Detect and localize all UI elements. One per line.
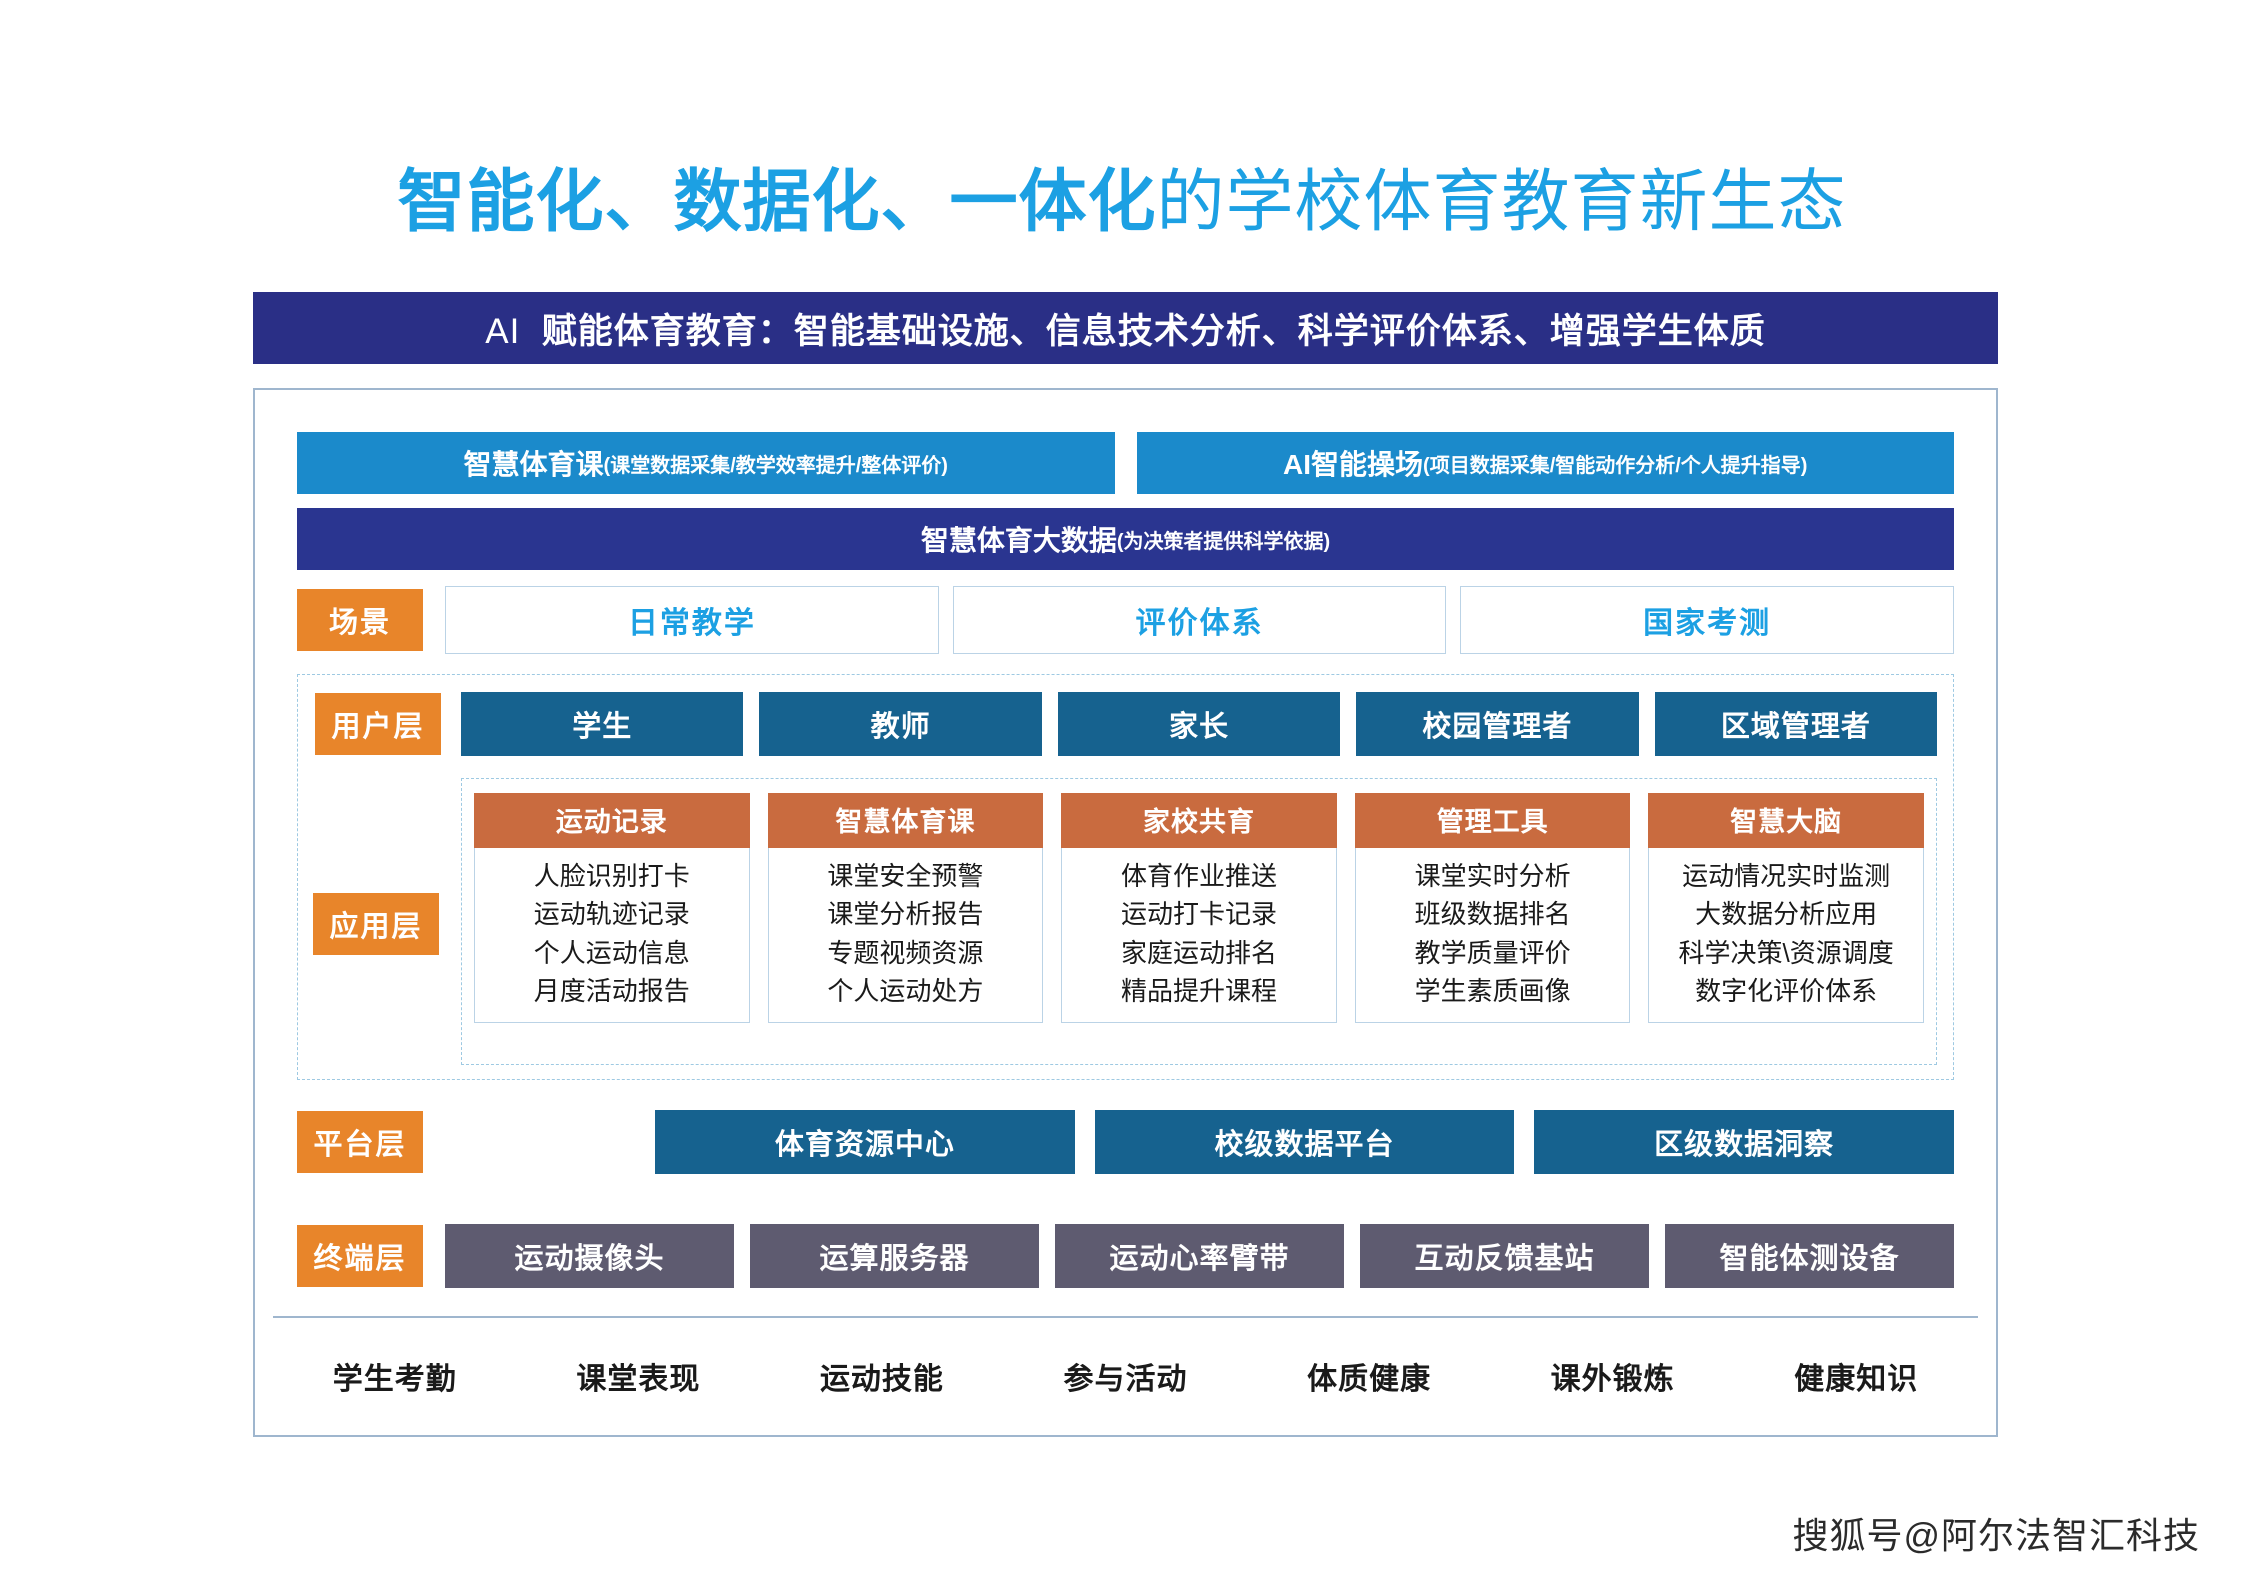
metrics-row: 学生考勤 课堂表现 运动技能 参与活动 体质健康 课外锻炼 健康知识 bbox=[273, 1316, 1978, 1436]
banner-ai-prefix: AI bbox=[485, 312, 520, 351]
page-title-emphasis: 智能化、数据化、一体化 bbox=[397, 164, 1156, 240]
application-column-header[interactable]: 管理工具 bbox=[1355, 793, 1631, 848]
application-item[interactable]: 专题视频资源 bbox=[827, 937, 983, 970]
platform-box-group: 体育资源中心 校级数据平台 区级数据洞察 bbox=[655, 1110, 1954, 1174]
metric-class-performance[interactable]: 课堂表现 bbox=[517, 1354, 761, 1398]
metric-attendance[interactable]: 学生考勤 bbox=[273, 1354, 517, 1398]
user-item-parent[interactable]: 家长 bbox=[1058, 692, 1340, 756]
metric-extracurricular-exercise[interactable]: 课外锻炼 bbox=[1491, 1354, 1735, 1398]
application-column-header[interactable]: 智慧大脑 bbox=[1648, 793, 1924, 848]
metric-participation[interactable]: 参与活动 bbox=[1004, 1354, 1248, 1398]
user-item-student[interactable]: 学生 bbox=[461, 692, 743, 756]
platform-layer-row: 平台层 体育资源中心 校级数据平台 区级数据洞察 bbox=[297, 1110, 1954, 1174]
application-item[interactable]: 个人运动处方 bbox=[827, 975, 983, 1008]
application-item[interactable]: 体育作业推送 bbox=[1121, 860, 1277, 893]
application-column-header[interactable]: 家校共育 bbox=[1061, 793, 1337, 848]
application-item[interactable]: 精品提升课程 bbox=[1121, 975, 1277, 1008]
terminal-item-heart-rate-band[interactable]: 运动心率臂带 bbox=[1055, 1224, 1344, 1288]
capability-box-title: 智慧体育课 bbox=[464, 443, 604, 483]
user-item-teacher[interactable]: 教师 bbox=[759, 692, 1041, 756]
scene-item-national-assessment[interactable]: 国家考测 bbox=[1460, 586, 1954, 654]
application-column-header[interactable]: 智慧体育课 bbox=[768, 793, 1044, 848]
terminal-item-fitness-test-device[interactable]: 智能体测设备 bbox=[1665, 1224, 1954, 1288]
user-layer-row: 用户层 学生 教师 家长 校园管理者 区域管理者 bbox=[315, 692, 1937, 756]
terminal-item-camera[interactable]: 运动摄像头 bbox=[445, 1224, 734, 1288]
terminal-layer-label: 终端层 bbox=[297, 1225, 423, 1287]
application-item[interactable]: 运动打卡记录 bbox=[1121, 898, 1277, 931]
watermark: 搜狐号@阿尔法智汇科技 bbox=[1700, 1507, 2200, 1559]
application-item[interactable]: 人脸识别打卡 bbox=[534, 860, 690, 893]
application-item[interactable]: 学生素质画像 bbox=[1415, 975, 1571, 1008]
top-capability-row: 智慧体育课(课堂数据采集/教学效率提升/整体评价) AI智能操场(项目数据采集/… bbox=[297, 432, 1954, 494]
terminal-layer-row: 终端层 运动摄像头 运算服务器 运动心率臂带 互动反馈基站 智能体测设备 bbox=[297, 1224, 1954, 1288]
application-column-body: 课堂实时分析 班级数据排名 教学质量评价 学生素质画像 bbox=[1355, 848, 1631, 1023]
big-data-title: 智慧体育大数据 bbox=[921, 519, 1117, 559]
big-data-bar[interactable]: 智慧体育大数据(为决策者提供科学依据) bbox=[297, 508, 1954, 570]
capability-box-ai-playground[interactable]: AI智能操场(项目数据采集/智能动作分析/个人提升指导) bbox=[1137, 432, 1955, 494]
application-item[interactable]: 科学决策\资源调度 bbox=[1679, 937, 1894, 970]
architecture-frame: 智慧体育课(课堂数据采集/教学效率提升/整体评价) AI智能操场(项目数据采集/… bbox=[253, 388, 1998, 1437]
application-item[interactable]: 运动情况实时监测 bbox=[1682, 860, 1890, 893]
application-column-management-tools: 管理工具 课堂实时分析 班级数据排名 教学质量评价 学生素质画像 bbox=[1355, 793, 1631, 1023]
headline-banner-text: AI 赋能体育教育：智能基础设施、信息技术分析、科学评价体系、增强学生体质 bbox=[485, 303, 1766, 354]
application-column-smart-pe-class: 智慧体育课 课堂安全预警 课堂分析报告 专题视频资源 个人运动处方 bbox=[768, 793, 1044, 1023]
banner-body-text: 赋能体育教育：智能基础设施、信息技术分析、科学评价体系、增强学生体质 bbox=[542, 312, 1766, 351]
capability-box-subtitle: (项目数据采集/智能动作分析/个人提升指导) bbox=[1423, 449, 1807, 478]
application-item[interactable]: 班级数据排名 bbox=[1415, 898, 1571, 931]
user-layer-label: 用户层 bbox=[315, 693, 441, 755]
user-item-school-admin[interactable]: 校园管理者 bbox=[1356, 692, 1638, 756]
platform-layer-label: 平台层 bbox=[297, 1111, 423, 1173]
terminal-box-group: 运动摄像头 运算服务器 运动心率臂带 互动反馈基站 智能体测设备 bbox=[445, 1224, 1954, 1288]
application-item[interactable]: 个人运动信息 bbox=[534, 937, 690, 970]
application-column-body: 课堂安全预警 课堂分析报告 专题视频资源 个人运动处方 bbox=[768, 848, 1044, 1023]
capability-box-title: AI智能操场 bbox=[1283, 443, 1423, 483]
application-item[interactable]: 运动轨迹记录 bbox=[534, 898, 690, 931]
metric-sport-skill[interactable]: 运动技能 bbox=[760, 1354, 1004, 1398]
application-column-sports-record: 运动记录 人脸识别打卡 运动轨迹记录 个人运动信息 月度活动报告 bbox=[474, 793, 750, 1023]
application-column-home-school: 家校共育 体育作业推送 运动打卡记录 家庭运动排名 精品提升课程 bbox=[1061, 793, 1337, 1023]
platform-item-school-data-platform[interactable]: 校级数据平台 bbox=[1095, 1110, 1515, 1174]
page-title-rest: 的学校体育教育新生态 bbox=[1157, 164, 1847, 240]
capability-box-subtitle: (课堂数据采集/教学效率提升/整体评价) bbox=[604, 449, 948, 478]
application-column-body: 运动情况实时监测 大数据分析应用 科学决策\资源调度 数字化评价体系 bbox=[1648, 848, 1924, 1023]
terminal-item-feedback-station[interactable]: 互动反馈基站 bbox=[1360, 1224, 1649, 1288]
application-column-body: 人脸识别打卡 运动轨迹记录 个人运动信息 月度活动报告 bbox=[474, 848, 750, 1023]
application-column-header[interactable]: 运动记录 bbox=[474, 793, 750, 848]
application-item[interactable]: 课堂分析报告 bbox=[827, 898, 983, 931]
scene-box-group: 日常教学 评价体系 国家考测 bbox=[445, 586, 1954, 654]
application-item[interactable]: 数字化评价体系 bbox=[1695, 975, 1877, 1008]
terminal-item-compute-server[interactable]: 运算服务器 bbox=[750, 1224, 1039, 1288]
user-box-group: 学生 教师 家长 校园管理者 区域管理者 bbox=[461, 692, 1937, 756]
scene-layer-label: 场景 bbox=[297, 589, 423, 651]
capability-box-smart-pe-class[interactable]: 智慧体育课(课堂数据采集/教学效率提升/整体评价) bbox=[297, 432, 1115, 494]
big-data-subtitle: (为决策者提供科学依据) bbox=[1117, 525, 1330, 554]
application-column-body: 体育作业推送 运动打卡记录 家庭运动排名 精品提升课程 bbox=[1061, 848, 1337, 1023]
platform-item-district-data-insight[interactable]: 区级数据洞察 bbox=[1534, 1110, 1954, 1174]
platform-item-resource-center[interactable]: 体育资源中心 bbox=[655, 1110, 1075, 1174]
scene-item-daily-teaching[interactable]: 日常教学 bbox=[445, 586, 939, 654]
application-item[interactable]: 课堂实时分析 bbox=[1415, 860, 1571, 893]
application-item[interactable]: 月度活动报告 bbox=[534, 975, 690, 1008]
application-item[interactable]: 教学质量评价 bbox=[1415, 937, 1571, 970]
page-title: 智能化、数据化、一体化的学校体育教育新生态 bbox=[0, 168, 2244, 236]
application-column-smart-brain: 智慧大脑 运动情况实时监测 大数据分析应用 科学决策\资源调度 数字化评价体系 bbox=[1648, 793, 1924, 1023]
application-layer-container: 运动记录 人脸识别打卡 运动轨迹记录 个人运动信息 月度活动报告 智慧体育课 课… bbox=[461, 778, 1937, 1065]
metric-physical-health[interactable]: 体质健康 bbox=[1247, 1354, 1491, 1398]
headline-banner: AI 赋能体育教育：智能基础设施、信息技术分析、科学评价体系、增强学生体质 bbox=[253, 292, 1998, 364]
application-layer-label: 应用层 bbox=[313, 893, 439, 955]
scene-layer-row: 场景 日常教学 评价体系 国家考测 bbox=[297, 586, 1954, 654]
scene-item-evaluation-system[interactable]: 评价体系 bbox=[953, 586, 1447, 654]
application-item[interactable]: 大数据分析应用 bbox=[1695, 898, 1877, 931]
application-item[interactable]: 家庭运动排名 bbox=[1121, 937, 1277, 970]
application-item[interactable]: 课堂安全预警 bbox=[827, 860, 983, 893]
user-item-district-admin[interactable]: 区域管理者 bbox=[1655, 692, 1937, 756]
metric-health-knowledge[interactable]: 健康知识 bbox=[1734, 1354, 1978, 1398]
